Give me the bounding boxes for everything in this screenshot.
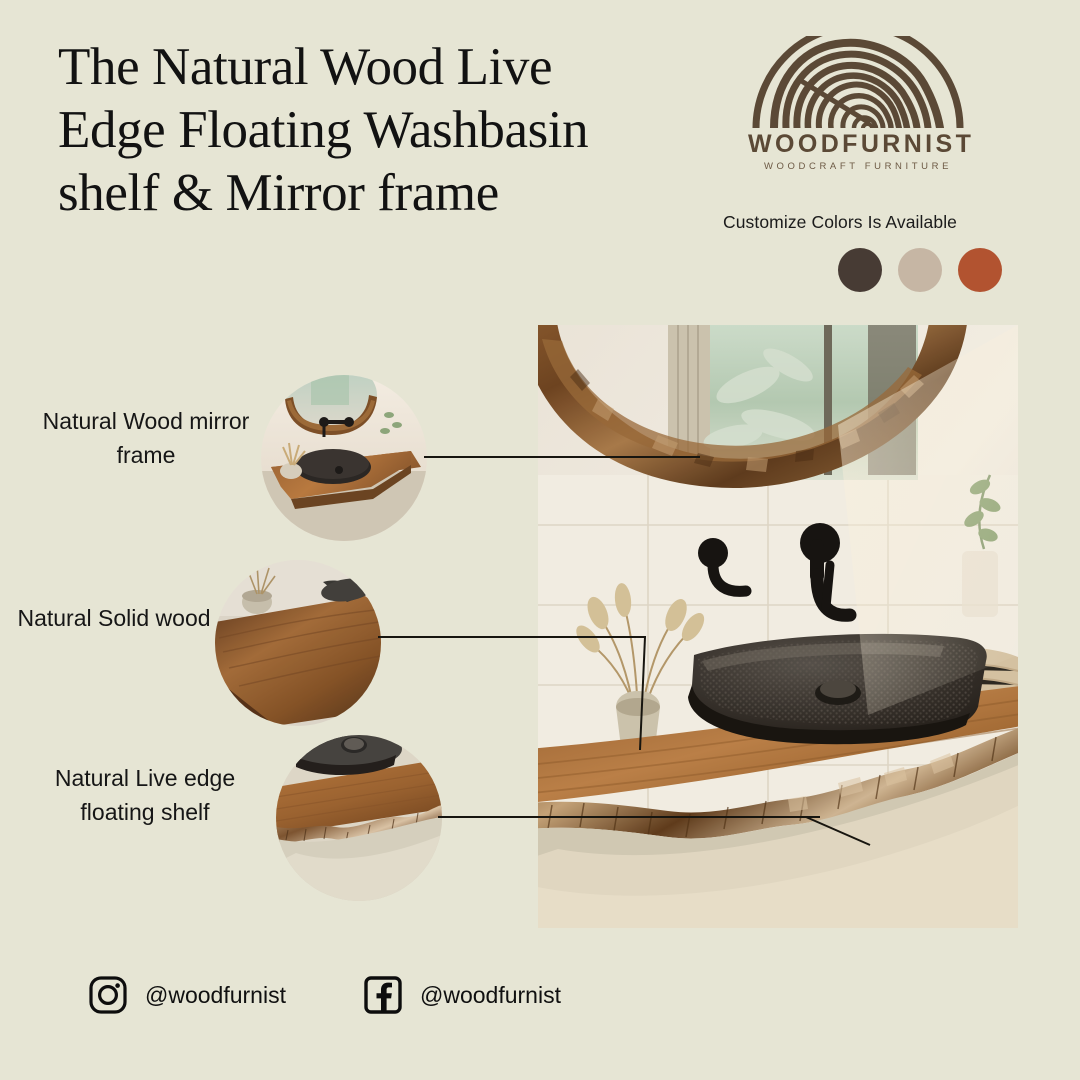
brand-tagline: WOODCRAFT FURNITURE (748, 162, 968, 172)
tree-ring-semicircle-icon (748, 36, 968, 128)
callout-label-solid-wood: Natural Solid wood (10, 602, 218, 636)
facebook-icon (363, 975, 403, 1015)
instagram-icon (88, 975, 128, 1015)
social-instagram[interactable]: @woodfurnist (88, 975, 286, 1015)
thumb-image-live-edge (276, 735, 442, 901)
poster-canvas: The Natural Wood Live Edge Floating Wash… (0, 0, 1080, 1080)
swatch-terracotta-rust[interactable] (958, 248, 1002, 292)
callout-thumb-solid-wood[interactable] (215, 560, 381, 726)
callout-thumb-floating-shelf[interactable] (276, 735, 442, 901)
callout-label-floating-shelf: Natural Live edge floating shelf (32, 762, 258, 830)
swatch-taupe-beige[interactable] (898, 248, 942, 292)
product-photo-image (538, 325, 1018, 928)
facebook-handle: @woodfurnist (420, 982, 561, 1009)
page-title: The Natural Wood Live Edge Floating Wash… (58, 36, 618, 225)
color-swatch-row (838, 248, 1002, 292)
customize-colors-heading: Customize Colors Is Available (690, 212, 990, 233)
brand-logo: WOODFURNIST WOODCRAFT FURNITURE (748, 36, 968, 172)
instagram-handle: @woodfurnist (145, 982, 286, 1009)
callout-label-mirror-frame: Natural Wood mirror frame (36, 405, 256, 473)
thumb-image-wood-surface (215, 560, 381, 726)
swatch-dark-brown[interactable] (838, 248, 882, 292)
thumb-image-wide-view (261, 375, 427, 541)
callout-thumb-mirror-frame[interactable] (261, 375, 427, 541)
product-photo[interactable] (538, 325, 1018, 928)
brand-name: WOODFURNIST (748, 132, 968, 157)
social-facebook[interactable]: @woodfurnist (363, 975, 561, 1015)
